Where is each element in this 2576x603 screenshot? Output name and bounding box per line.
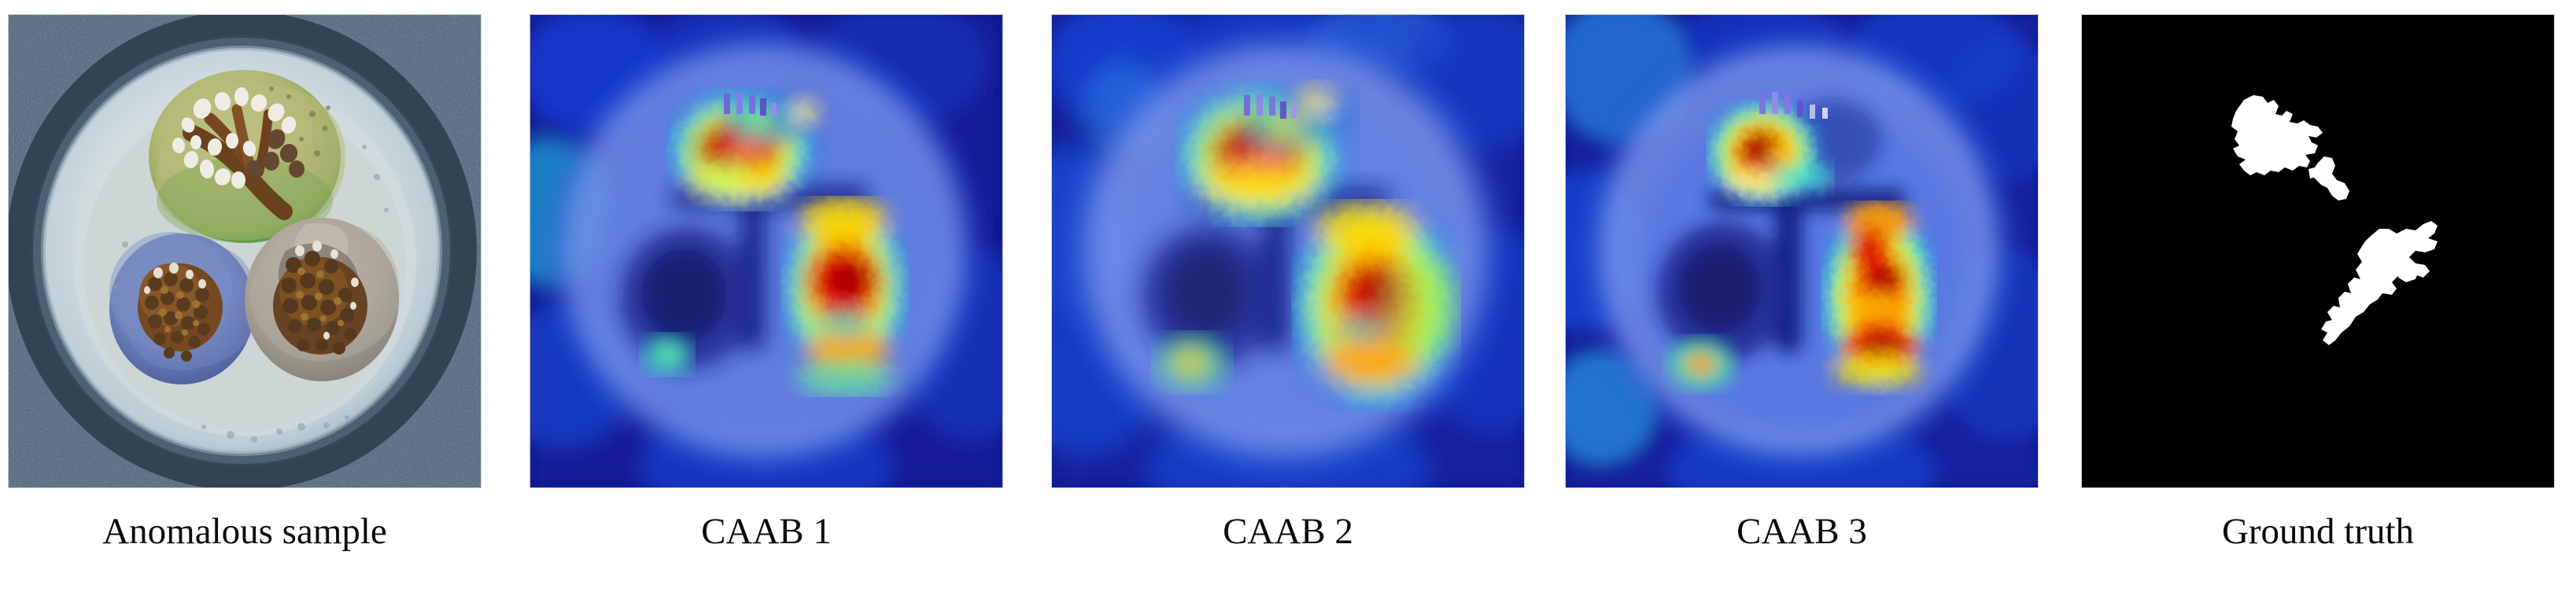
panel-caab-1 <box>530 15 1002 487</box>
caption-anomalous-sample: Anomalous sample <box>1 507 489 556</box>
ground-truth-mask <box>2082 15 2554 487</box>
anomalous-sample-image <box>9 15 481 487</box>
caab-3-heatmap <box>1566 15 2038 487</box>
panel-caab-3 <box>1566 15 2038 487</box>
panel-caab-2 <box>1052 15 1524 487</box>
panel-anomalous-sample <box>9 15 481 487</box>
caption-caab-3: CAAB 3 <box>1558 507 2046 556</box>
caab-1-heatmap <box>530 15 1002 487</box>
mask-background <box>2082 15 2554 487</box>
caab-2-heatmap <box>1052 15 1524 487</box>
caption-caab-1: CAAB 1 <box>522 507 1010 556</box>
panel-ground-truth <box>2082 15 2554 487</box>
figure-panel-grid: Anomalous sample <box>0 0 2576 603</box>
caption-caab-2: CAAB 2 <box>1044 507 1532 556</box>
caption-ground-truth: Ground truth <box>2074 507 2562 556</box>
